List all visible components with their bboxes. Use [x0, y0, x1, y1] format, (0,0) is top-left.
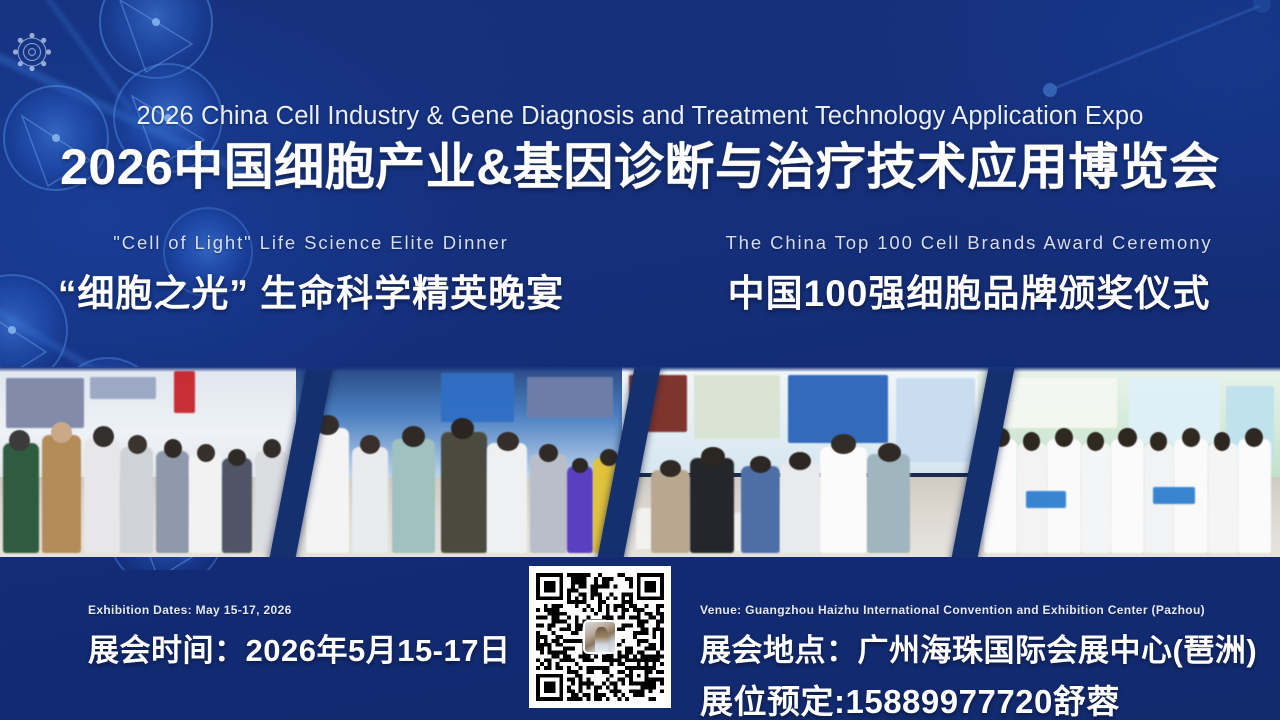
qr-avatar-icon [583, 620, 617, 654]
headline-chinese: 2026中国细胞产业&基因诊断与治疗技术应用博览会 [0, 140, 1280, 194]
event-award-english: The China Top 100 Cell Brands Award Cere… [658, 232, 1280, 254]
photo-exhibition-hall-crowd [0, 367, 300, 557]
photo-strip [0, 367, 1280, 557]
poster-canvas: 2026 China Cell Industry & Gene Diagnosi… [0, 0, 1280, 720]
exhibition-dates-english: Exhibition Dates: May 15-17, 2026 [88, 603, 511, 617]
headline-english: 2026 China Cell Industry & Gene Diagnosi… [0, 104, 1280, 130]
events-row: "Cell of Light" Life Science Elite Dinne… [0, 232, 1280, 317]
event-dinner: "Cell of Light" Life Science Elite Dinne… [0, 232, 640, 317]
photo-booth-meeting-tables [622, 367, 982, 557]
exhibition-dates-chinese: 展会时间：2026年5月15-17日 [88, 625, 511, 670]
cell-molecule-emblem-icon [8, 28, 56, 76]
photo-staff-group [978, 367, 1280, 557]
event-award: The China Top 100 Cell Brands Award Cere… [640, 232, 1280, 317]
event-dinner-chinese: “细胞之光” 生命科学精英晚宴 [0, 263, 622, 317]
venue-english: Venue: Guangzhou Haizhu International Co… [700, 603, 1257, 617]
venue-chinese: 展会地点：广州海珠国际会展中心(琶洲) [700, 625, 1257, 670]
venue-block: Venue: Guangzhou Haizhu International Co… [700, 603, 1257, 670]
photo-visitors-walking-aisle [296, 367, 626, 557]
booth-booking-contact: 展位预定:15889977720舒蓉 [700, 675, 1120, 720]
event-dinner-english: "Cell of Light" Life Science Elite Dinne… [0, 232, 622, 254]
headline-block: 2026 China Cell Industry & Gene Diagnosi… [0, 104, 1280, 194]
wechat-qr-code[interactable] [529, 566, 671, 708]
exhibition-dates-block: Exhibition Dates: May 15-17, 2026 展会时间：2… [88, 603, 511, 670]
event-award-chinese: 中国100强细胞品牌颁奖仪式 [658, 263, 1280, 317]
